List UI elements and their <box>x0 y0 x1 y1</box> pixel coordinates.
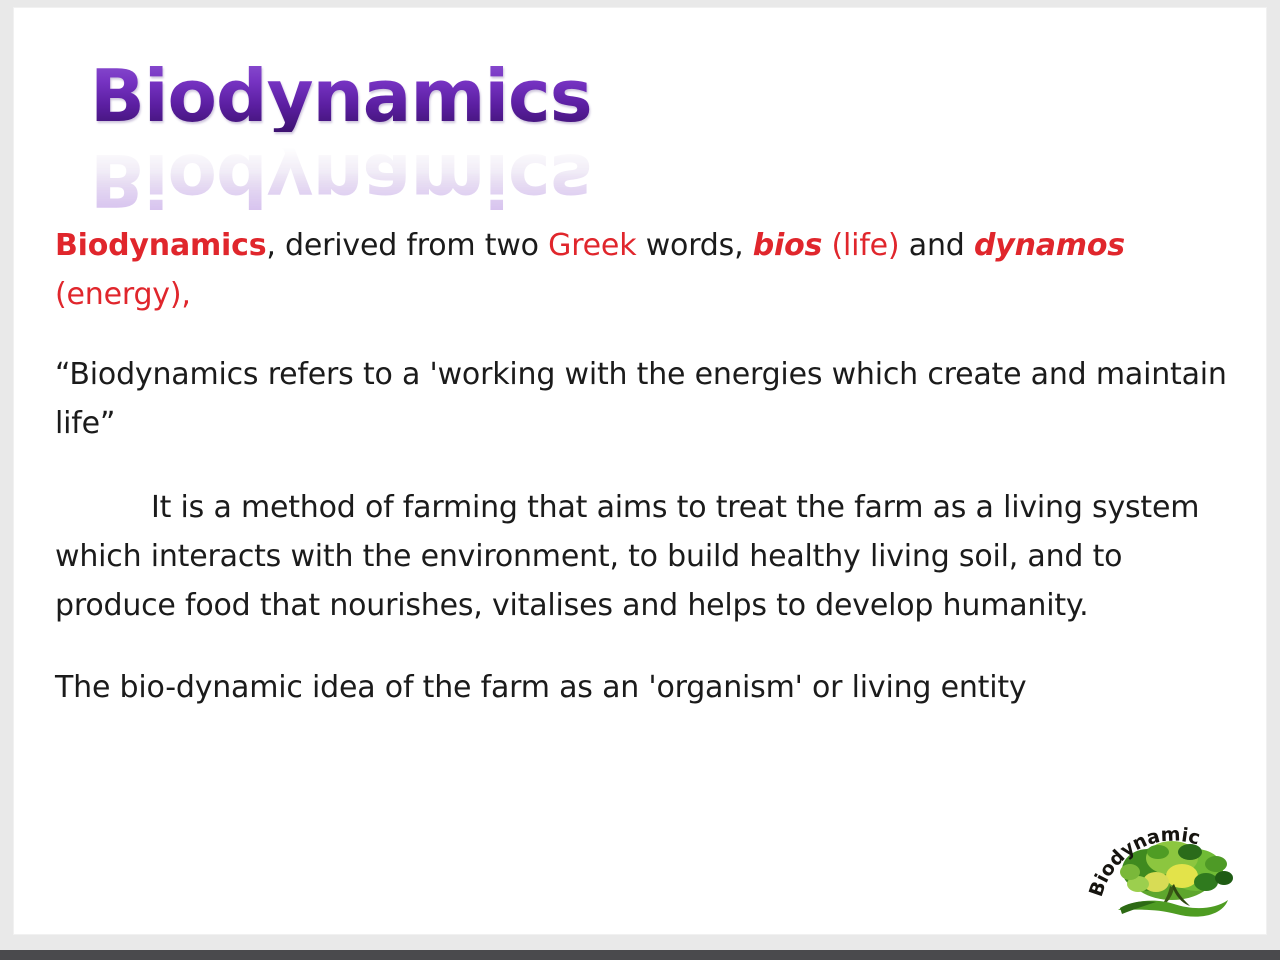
slide-bottom-bar <box>0 950 1280 960</box>
slide-canvas: Biodynamics Biodynamics Biodynamics, der… <box>14 8 1266 934</box>
tree-logo-icon: Biodynamic <box>1086 814 1258 932</box>
idea-paragraph: The bio-dynamic idea of the farm as an '… <box>55 664 1245 713</box>
slide-title-block: Biodynamics Biodynamics <box>90 60 650 200</box>
definition-conjunction: and <box>899 228 974 263</box>
page-title-reflection: Biodynamics <box>90 144 592 216</box>
definition-after-greek: words, <box>636 228 752 263</box>
definition-greek: Greek <box>548 228 636 263</box>
definition-dynamos-gloss: (energy), <box>55 277 191 312</box>
definition-bios: bios <box>753 228 822 263</box>
definition-after-term: , derived from two <box>266 228 548 263</box>
page-title: Biodynamics <box>90 60 592 132</box>
definition-paragraph: Biodynamics, derived from two Greek word… <box>55 222 1245 319</box>
definition-dynamos: dynamos <box>974 228 1125 263</box>
definition-bios-gloss: (life) <box>822 228 899 263</box>
definition-term: Biodynamics <box>55 228 266 263</box>
slide-frame: Biodynamics Biodynamics Biodynamics, der… <box>0 0 1280 960</box>
biodynamic-logo: Biodynamic <box>1086 814 1258 932</box>
slide-body: Biodynamics, derived from two Greek word… <box>55 222 1245 713</box>
method-paragraph: It is a method of farming that aims to t… <box>55 484 1245 630</box>
quote-paragraph: “Biodynamics refers to a 'working with t… <box>55 351 1245 448</box>
